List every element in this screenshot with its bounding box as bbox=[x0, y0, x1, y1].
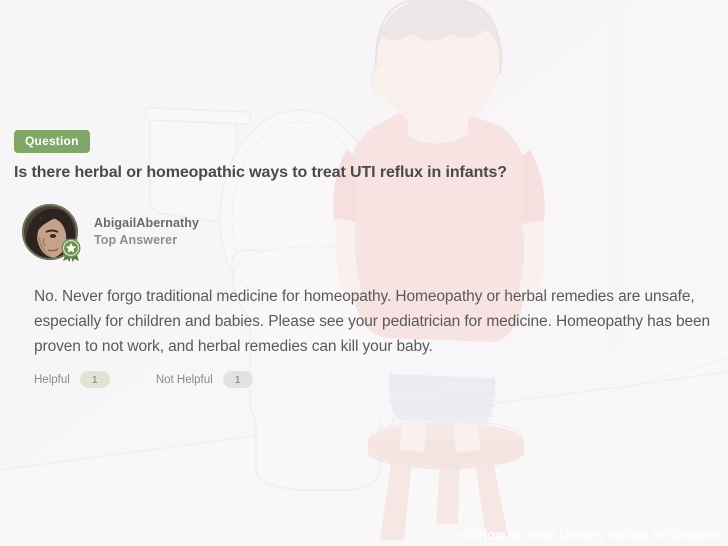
wikihow-answer-screenshot: Question Is there herbal or homeopathic … bbox=[0, 0, 728, 546]
watermark-how: How bbox=[478, 527, 505, 542]
watermark-title: to Treat Urinary Reflux in Children bbox=[505, 527, 720, 542]
helpful-label: Helpful bbox=[34, 374, 70, 386]
answer-author: AbigailAbernathy Top Answerer bbox=[22, 204, 199, 260]
qa-overlay: Question Is there herbal or homeopathic … bbox=[0, 0, 728, 546]
not-helpful-label: Not Helpful bbox=[156, 374, 213, 386]
wikihow-watermark: wikiHow to Treat Urinary Reflux in Child… bbox=[453, 528, 720, 541]
not-helpful-group[interactable]: Not Helpful 1 bbox=[156, 371, 253, 388]
question-badge: Question bbox=[14, 130, 90, 153]
avatar-wrap bbox=[22, 204, 78, 260]
question-title: Is there herbal or homeopathic ways to t… bbox=[14, 163, 714, 183]
vote-row: Helpful 1 Not Helpful 1 bbox=[34, 371, 253, 388]
author-name[interactable]: AbigailAbernathy bbox=[94, 216, 199, 232]
author-meta: AbigailAbernathy Top Answerer bbox=[94, 216, 199, 248]
not-helpful-count: 1 bbox=[223, 371, 253, 388]
award-rosette-icon bbox=[60, 238, 82, 262]
watermark-wiki: wiki bbox=[453, 527, 478, 542]
author-title: Top Answerer bbox=[94, 233, 199, 249]
helpful-group[interactable]: Helpful 1 bbox=[34, 371, 110, 388]
helpful-count: 1 bbox=[80, 371, 110, 388]
answer-body: No. Never forgo traditional medicine for… bbox=[34, 284, 720, 359]
